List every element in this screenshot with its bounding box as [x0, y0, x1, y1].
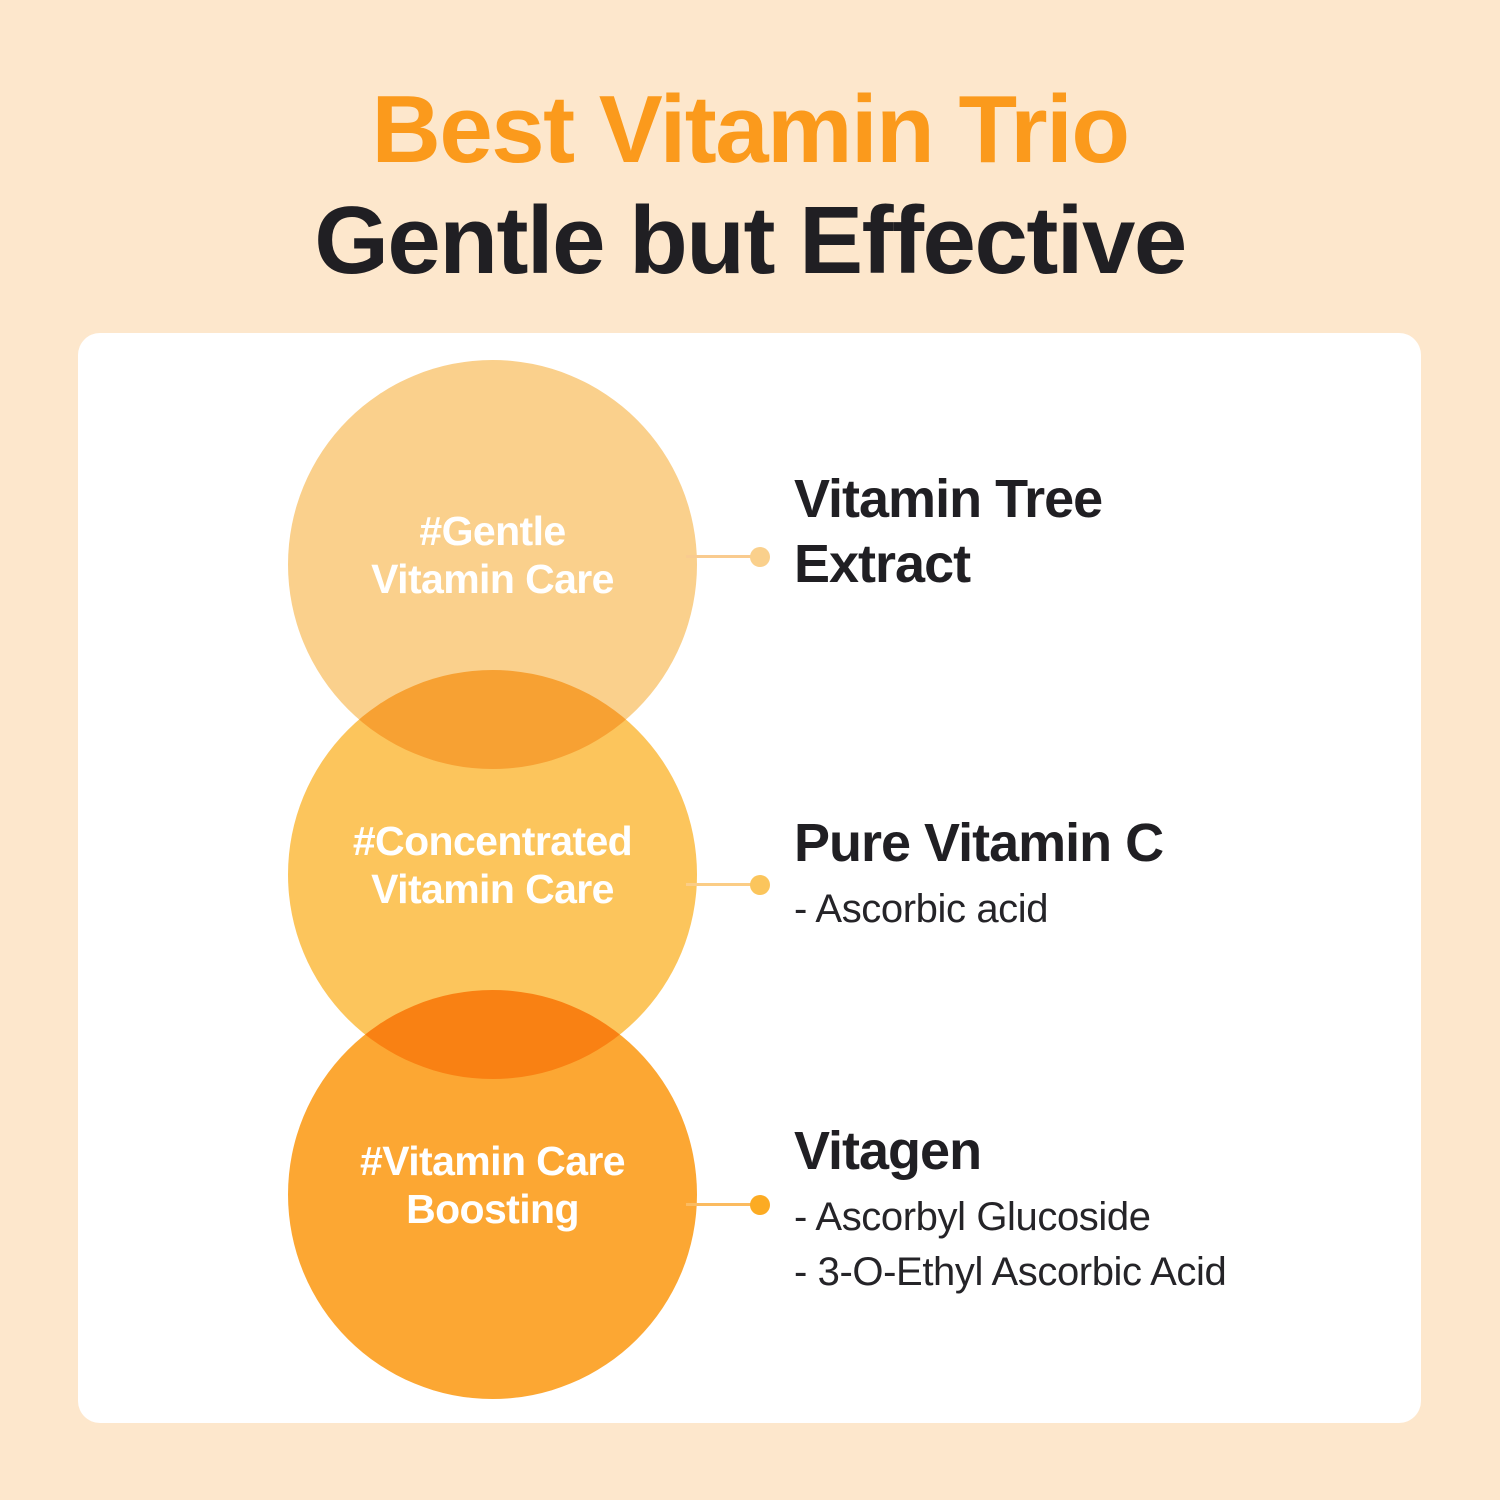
ingredient-title: Vitagen [794, 1119, 1226, 1184]
venn-label-boosting-line2: Boosting [288, 1185, 697, 1233]
ingredient-sub: - Ascorbic acid [794, 882, 1163, 937]
ingredient-block-vitamin-tree-extract: Vitamin Tree Extract [794, 467, 1102, 597]
connector-dot-icon [750, 1195, 770, 1215]
page-title: Best Vitamin Trio Gentle but Effective [0, 74, 1500, 297]
connector-dot-icon [750, 875, 770, 895]
connector-line-icon [686, 555, 758, 558]
venn-label-concentrated: #Concentrated Vitamin Care [288, 817, 697, 914]
ingredient-title: Vitamin Tree Extract [794, 467, 1102, 597]
headline-line-1: Best Vitamin Trio [0, 74, 1500, 185]
promo-page: Best Vitamin Trio Gentle but Effective #… [0, 0, 1500, 1500]
ingredient-title: Pure Vitamin C [794, 811, 1163, 876]
ingredient-block-pure-vitamin-c: Pure Vitamin C - Ascorbic acid [794, 811, 1163, 937]
content-card: #Gentle Vitamin Care #Concentrated Vitam… [78, 333, 1421, 1423]
connector-line-icon [686, 1203, 758, 1206]
venn-label-concentrated-line1: #Concentrated [288, 817, 697, 865]
ingredient-block-vitagen: Vitagen - Ascorbyl Glucoside - 3-O-Ethyl… [794, 1119, 1226, 1300]
venn-label-boosting-line1: #Vitamin Care [288, 1137, 697, 1185]
ingredient-sub: - Ascorbyl Glucoside - 3-O-Ethyl Ascorbi… [794, 1190, 1226, 1300]
venn-label-gentle: #Gentle Vitamin Care [288, 507, 697, 604]
venn-label-gentle-line2: Vitamin Care [288, 555, 697, 603]
connector-line-icon [686, 883, 758, 886]
connector-dot-icon [750, 547, 770, 567]
venn-label-gentle-line1: #Gentle [288, 507, 697, 555]
venn-label-boosting: #Vitamin Care Boosting [288, 1137, 697, 1234]
venn-label-concentrated-line2: Vitamin Care [288, 865, 697, 913]
headline-line-2: Gentle but Effective [0, 185, 1500, 296]
